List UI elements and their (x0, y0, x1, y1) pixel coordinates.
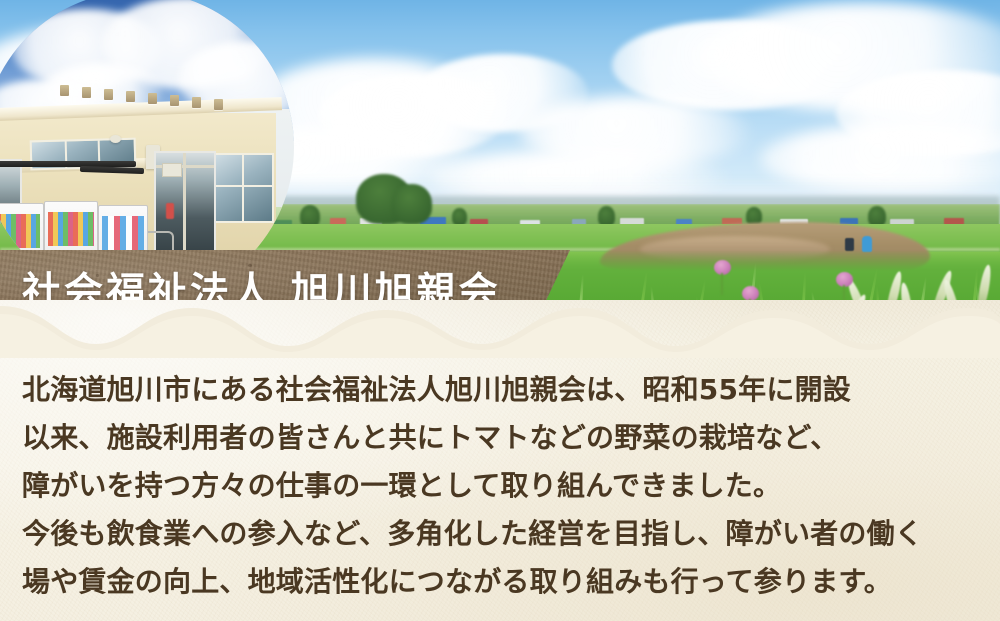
building-sign-char (148, 93, 157, 104)
building-sign-char (192, 97, 201, 108)
vending-display (0, 214, 40, 248)
building-window (214, 153, 274, 223)
thistle-flower (714, 260, 731, 275)
wall-lamp (110, 135, 121, 143)
window-mullion (216, 185, 272, 187)
description-line: 北海道旭川市にある社会福祉法人旭川旭親会は、昭和55年に開設 (22, 366, 978, 414)
thistle-flower (836, 272, 853, 287)
building-sign-char (170, 95, 179, 106)
building-sign-char (60, 85, 69, 96)
banner-root: 社会福祉法人 旭川旭親会 北海道旭川市にある社会福祉法人旭川旭親会は、昭和55年… (0, 0, 1000, 621)
vending-display (102, 216, 144, 250)
door-notice (166, 203, 174, 219)
window-mullion (242, 155, 244, 221)
description-line: 障がいを持つ方々の仕事の一環として取り組んできました。 (22, 462, 978, 510)
vending-display (48, 212, 94, 246)
thistle-flower (742, 286, 759, 301)
wave-edge (0, 300, 1000, 358)
interior-panel (162, 163, 182, 177)
description-line: 以来、施設利用者の皆さんと共にトマトなどの野菜の栽培など、 (22, 414, 978, 462)
description-text: 北海道旭川市にある社会福祉法人旭川旭親会は、昭和55年に開設 以来、施設利用者の… (22, 366, 978, 606)
building-sign-char (214, 99, 223, 110)
wave-edge-shape (0, 300, 1000, 358)
foreground-tree (392, 184, 432, 224)
vending-awning (0, 161, 136, 167)
building-sign-char (104, 89, 113, 100)
description-line: 今後も飲食業への参入など、多角化した経営を目指し、障がい者の働く (22, 510, 978, 558)
building-sign-char (126, 91, 135, 102)
building-sign-char (82, 87, 91, 98)
description-line: 場や賃金の向上、地域活性化につながる取り組みも行って参ります。 (22, 558, 978, 606)
